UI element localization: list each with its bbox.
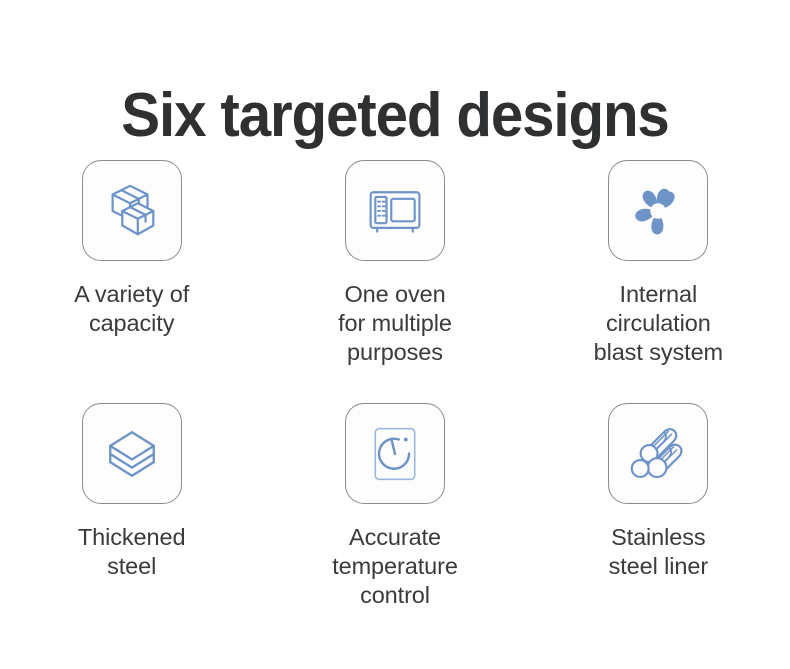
feature-caption: Internal circulation blast system — [594, 280, 723, 367]
feature-icon-tile[interactable] — [608, 403, 708, 504]
feature-highlights-page: Six targeted designs — [0, 0, 790, 669]
feature-caption: One oven for multiple purposes — [338, 280, 452, 367]
feature-card-one-oven-multiple-purposes[interactable]: One oven for multiple purposes — [263, 160, 526, 367]
feature-icon-tile[interactable] — [345, 160, 445, 261]
feature-caption: Thickened steel — [78, 523, 186, 581]
fan-icon — [629, 182, 687, 240]
oven-icon — [365, 181, 425, 241]
layers-icon — [103, 425, 161, 483]
temperature-timer-icon — [365, 424, 425, 484]
feature-icon-tile[interactable] — [82, 160, 182, 261]
row-spacer — [0, 367, 263, 403]
feature-caption: Stainless steel liner — [609, 523, 708, 581]
feature-grid: A variety of capacity — [0, 160, 790, 610]
page-title: Six targeted designs — [24, 80, 767, 152]
row-spacer — [527, 367, 790, 403]
feature-card-stainless-steel-liner[interactable]: Stainless steel liner — [527, 403, 790, 610]
boxes-icon — [101, 180, 163, 242]
feature-caption: A variety of capacity — [74, 280, 189, 338]
feature-icon-tile[interactable] — [345, 403, 445, 504]
feature-card-thickened-steel[interactable]: Thickened steel — [0, 403, 263, 610]
feature-card-accurate-temperature-control[interactable]: Accurate temperature control — [263, 403, 526, 610]
feature-icon-tile[interactable] — [82, 403, 182, 504]
row-spacer — [263, 367, 526, 403]
feature-card-variety-of-capacity[interactable]: A variety of capacity — [0, 160, 263, 367]
feature-icon-tile[interactable] — [608, 160, 708, 261]
feature-caption: Accurate temperature control — [332, 523, 458, 610]
feature-card-internal-circulation[interactable]: Internal circulation blast system — [527, 160, 790, 367]
steel-tubes-icon — [628, 424, 688, 484]
